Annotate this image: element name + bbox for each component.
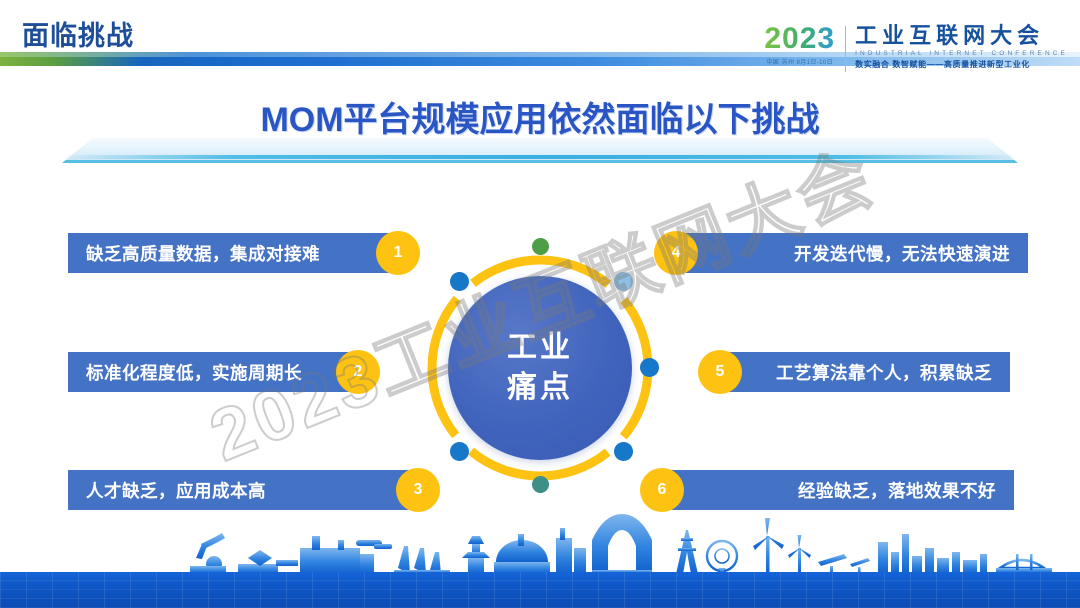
challenge-item-2[interactable]: 标准化程度低，实施周期长 2 <box>68 352 380 392</box>
hub-line-1: 工业 <box>507 328 573 368</box>
conference-logo: 2023 中国·苏州 8月1日-10日 工业互联网大会 INDUSTRIAL I… <box>764 24 1068 76</box>
ground-grid-pattern <box>0 572 1080 608</box>
heading-section: MOM平台规模应用依然面临以下挑战 <box>0 92 1080 164</box>
logo-name-en: INDUSTRIAL INTERNET CONFERENCE <box>855 50 1068 57</box>
challenge-badge-2: 2 <box>336 350 380 394</box>
hub-core: 工业 痛点 <box>448 276 632 460</box>
logo-slogan: 数实融合 数智赋能——高质量推进新型工业化 <box>855 59 1068 70</box>
challenge-badge-6: 6 <box>640 468 684 512</box>
challenge-bar-1: 缺乏高质量数据，集成对接难 <box>68 233 398 273</box>
hub-line-2: 痛点 <box>507 368 573 408</box>
heading-shelf-decoration <box>62 138 1018 163</box>
dot-upper-right <box>614 272 633 291</box>
challenge-label-5: 工艺算法靠个人，积累缺乏 <box>776 360 992 385</box>
dot-lower-left <box>450 442 469 461</box>
main-heading: MOM平台规模应用依然面临以下挑战 <box>0 92 1080 141</box>
dot-top <box>532 238 549 255</box>
challenge-badge-4: 4 <box>654 231 698 275</box>
dot-upper-left <box>450 272 469 291</box>
challenge-item-6[interactable]: 6 经验缺乏，落地效果不好 <box>640 470 1014 510</box>
challenge-label-2: 标准化程度低，实施周期长 <box>86 360 302 385</box>
logo-name-block: 工业互联网大会 INDUSTRIAL INTERNET CONFERENCE 数… <box>855 24 1068 70</box>
slide-canvas: 面临挑战 2023 中国·苏州 8月1日-10日 工业互联网大会 INDUSTR… <box>0 0 1080 608</box>
challenge-item-1[interactable]: 缺乏高质量数据，集成对接难 1 <box>68 233 420 273</box>
dot-lower-right <box>614 442 633 461</box>
challenge-label-4: 开发迭代慢，无法快速演进 <box>794 241 1010 266</box>
challenge-label-6: 经验缺乏，落地效果不好 <box>798 478 996 503</box>
logo-divider <box>845 26 846 72</box>
center-hub: 工业 痛点 <box>418 246 662 490</box>
challenge-badge-1: 1 <box>376 231 420 275</box>
challenge-item-5[interactable]: 5 工艺算法靠个人，积累缺乏 <box>698 352 1010 392</box>
challenge-label-3: 人才缺乏，应用成本高 <box>86 478 266 503</box>
page-title: 面临挑战 <box>22 14 134 53</box>
challenge-bar-6: 经验缺乏，落地效果不好 <box>662 470 1014 510</box>
challenge-item-4[interactable]: 4 开发迭代慢，无法快速演进 <box>654 233 1028 273</box>
bottom-skyline <box>0 516 1080 608</box>
skyline-silhouette-icon <box>0 514 1080 574</box>
heading-shelf-glow <box>62 155 1018 159</box>
dot-bottom <box>532 476 549 493</box>
challenge-bar-4: 开发迭代慢，无法快速演进 <box>676 233 1028 273</box>
logo-year: 2023 <box>764 24 835 54</box>
challenge-badge-5: 5 <box>698 350 742 394</box>
logo-year-block: 2023 中国·苏州 8月1日-10日 <box>764 24 845 66</box>
challenge-bar-3: 人才缺乏，应用成本高 <box>68 470 418 510</box>
logo-date-line: 中国·苏州 8月1日-10日 <box>764 57 835 66</box>
challenge-badge-3: 3 <box>396 468 440 512</box>
dot-right <box>640 358 659 377</box>
challenge-bar-5: 工艺算法靠个人，积累缺乏 <box>720 352 1010 392</box>
challenge-label-1: 缺乏高质量数据，集成对接难 <box>86 241 320 266</box>
challenge-bar-2: 标准化程度低，实施周期长 <box>68 352 358 392</box>
slide-header: 面临挑战 2023 中国·苏州 8月1日-10日 工业互联网大会 INDUSTR… <box>0 0 1080 72</box>
challenge-item-3[interactable]: 人才缺乏，应用成本高 3 <box>68 470 440 510</box>
logo-name-cn: 工业互联网大会 <box>855 24 1068 48</box>
